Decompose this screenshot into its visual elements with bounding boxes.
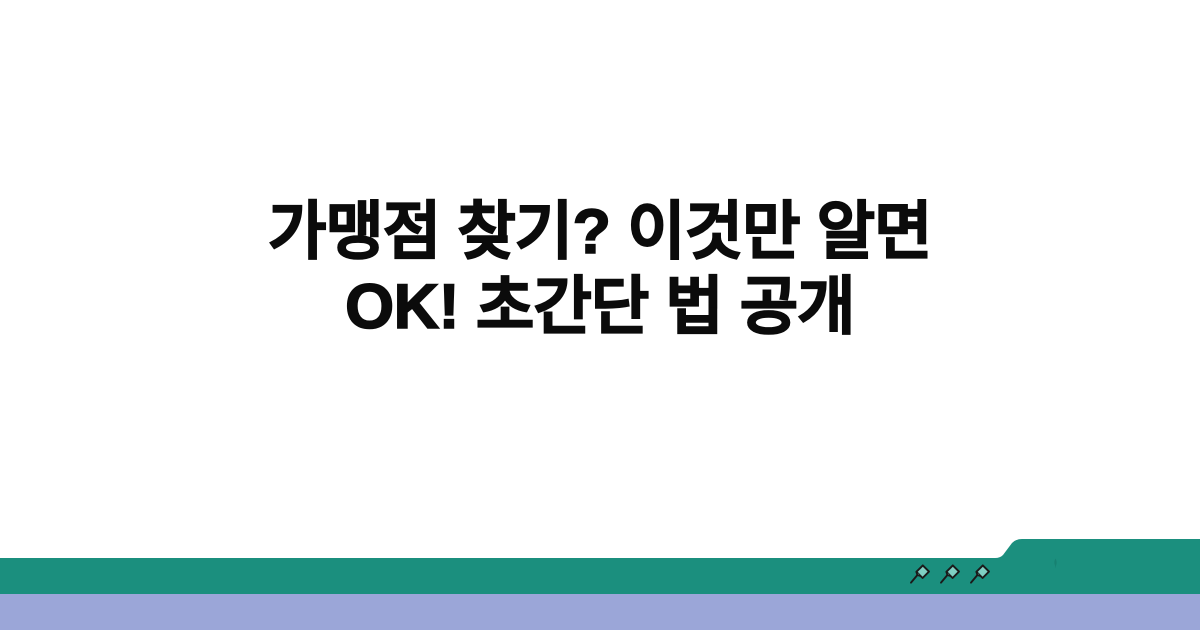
pin-icon-row [908,560,992,587]
push-pin-icon [938,562,962,586]
thumbnail-canvas: 가맹점 찾기? 이것만 알면 OK! 초간단 법 공개 [0,0,1200,630]
title-block: 가맹점 찾기? 이것만 알면 OK! 초간단 법 공개 [0,0,1200,540]
teal-band [200,539,1200,594]
push-pin-icon [908,562,932,586]
decoration-bands-svg [0,535,1200,630]
periwinkle-band [0,594,1200,630]
bottom-decoration [0,535,1200,630]
teal-band-left [0,558,200,594]
page-title: 가맹점 찾기? 이것만 알면 OK! 초간단 법 공개 [250,195,950,345]
push-pin-icon [968,562,992,586]
